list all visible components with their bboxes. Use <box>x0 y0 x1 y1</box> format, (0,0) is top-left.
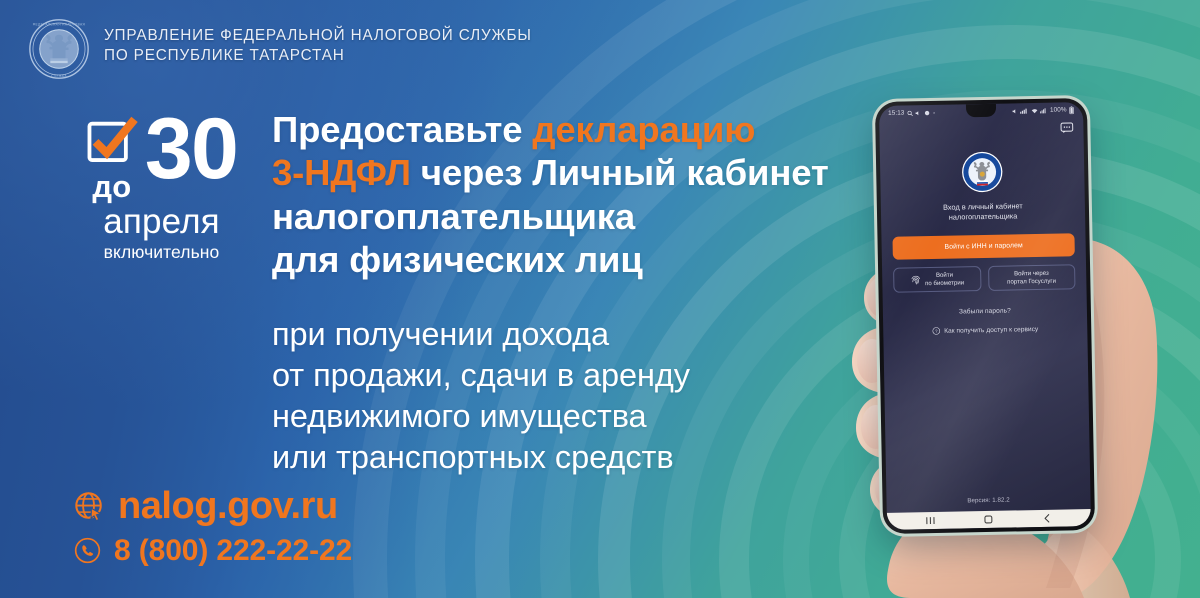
headline: Предоставьте декларацию 3-НДФЛ через Лич… <box>272 108 912 281</box>
svg-text:?: ? <box>935 329 938 334</box>
battery-percentage: 100% <box>1050 106 1067 113</box>
headline-line-2: 3-НДФЛ через Личный кабинет <box>272 151 912 194</box>
chat-bubble-icon[interactable] <box>1060 122 1073 133</box>
gosuslugi-label-line-2: портал Госуслуги <box>1007 277 1056 285</box>
forgot-password-link[interactable]: Забыли пароль? <box>959 308 1011 316</box>
deadline-left-column: до <box>86 112 138 202</box>
contacts-block: nalog.gov.ru 8 (800) 222-22-22 <box>74 487 352 566</box>
subtext: при получении дохода от продажи, сдачи в… <box>272 314 892 478</box>
org-title-line-1: УПРАВЛЕНИЕ ФЕДЕРАЛЬНОЙ НАЛОГОВОЙ СЛУЖБЫ <box>104 26 532 46</box>
subtext-line-1: при получении дохода <box>272 314 892 355</box>
how-to-access-label: Как получить доступ к сервису <box>944 326 1038 335</box>
dot-icon <box>932 110 936 114</box>
signal-icon <box>1012 108 1018 114</box>
website-row[interactable]: nalog.gov.ru <box>74 487 352 527</box>
headline-part-1: Предоставьте <box>272 109 532 150</box>
org-title-line-2: ПО РЕСПУБЛИКЕ ТАТАРСТАН <box>104 46 532 66</box>
network-4g-icon <box>1020 108 1028 114</box>
login-inn-password-button[interactable]: Войти с ИНН и паролем <box>892 234 1074 260</box>
headline-line-1: Предоставьте декларацию <box>272 108 912 151</box>
phone-row[interactable]: 8 (800) 222-22-22 <box>74 535 352 567</box>
home-icon[interactable] <box>983 514 994 525</box>
subtext-line-3: недвижимого имущества <box>272 396 892 437</box>
svg-text:ФЕДЕРАЛЬНАЯ НАЛОГОВАЯ: ФЕДЕРАЛЬНАЯ НАЛОГОВАЯ <box>33 22 86 26</box>
back-icon[interactable] <box>1042 513 1053 524</box>
deadline-day: 30 <box>145 112 237 188</box>
phone-circle-icon <box>74 537 101 564</box>
login-title-line-2: налогоплательщика <box>943 211 1023 222</box>
deadline-month: апреля <box>74 204 249 240</box>
login-gosuslugi-button[interactable]: Войти черезпортал Госуслуги <box>988 265 1076 292</box>
status-bar-right: 100% <box>1012 106 1074 115</box>
headline-part-2: через Личный кабинет <box>411 152 829 193</box>
website-text[interactable]: nalog.gov.ru <box>118 487 338 527</box>
app-badge-icon <box>924 110 930 116</box>
volume-icon <box>915 110 921 116</box>
question-circle-icon: ? <box>932 327 940 335</box>
fns-emblem-icon: ФЕДЕРАЛЬНАЯ НАЛОГОВАЯ СЛУЖБА <box>28 18 90 80</box>
subtext-line-2: от продажи, сдачи в аренду <box>272 355 892 396</box>
headline-accent-deklaraciyu: декларацию <box>532 109 755 150</box>
deadline-note: включительно <box>74 243 249 262</box>
login-title: Вход в личный кабинет налогоплательщика <box>943 201 1023 222</box>
deadline-block: до 30 апреля включительно <box>74 112 249 262</box>
alt-login-buttons: Войтипо биометрии Войти черезпортал Госу… <box>893 265 1075 293</box>
biometry-button-label: Войтипо биометрии <box>925 271 964 288</box>
organization-header: ФЕДЕРАЛЬНАЯ НАЛОГОВАЯ СЛУЖБА УПРАВЛЕНИЕ … <box>28 18 532 80</box>
wifi-icon <box>1031 107 1038 113</box>
subtext-line-4: или транспортных средств <box>272 437 892 478</box>
app-version-label: Версия: 1.82.2 <box>967 497 1010 505</box>
svg-text:СЛУЖБА: СЛУЖБА <box>51 74 67 78</box>
battery-full-icon <box>1069 106 1074 114</box>
deadline-top-row: до 30 <box>74 112 249 202</box>
checkbox-checked-icon <box>86 115 138 167</box>
deadline-preposition: до <box>92 171 131 202</box>
biometry-label-line-2: по биометрии <box>925 279 964 287</box>
organization-title: УПРАВЛЕНИЕ ФЕДЕРАЛЬНОЙ НАЛОГОВОЙ СЛУЖБЫ … <box>104 18 532 65</box>
globe-cursor-icon <box>74 491 105 522</box>
fns-emblem-icon <box>961 151 1004 194</box>
phone-text[interactable]: 8 (800) 222-22-22 <box>114 535 352 567</box>
nalog-3ndfl-banner: ФЕДЕРАЛЬНАЯ НАЛОГОВАЯ СЛУЖБА УПРАВЛЕНИЕ … <box>0 0 1200 598</box>
gosuslugi-button-label: Войти черезпортал Госуслуги <box>1007 269 1056 286</box>
signal-bars-icon <box>1040 107 1047 113</box>
gosuslugi-label-line-1: Войти через <box>1014 270 1049 278</box>
headline-line-4: для физических лиц <box>272 238 912 281</box>
headline-accent-3ndfl: 3-НДФЛ <box>272 152 411 193</box>
headline-line-3: налогоплательщика <box>272 195 912 238</box>
camera-notch <box>966 104 996 118</box>
recents-icon[interactable] <box>925 515 936 526</box>
how-to-access-link[interactable]: ? Как получить доступ к сервису <box>932 325 1038 335</box>
biometry-label-line-1: Войти <box>936 271 953 278</box>
